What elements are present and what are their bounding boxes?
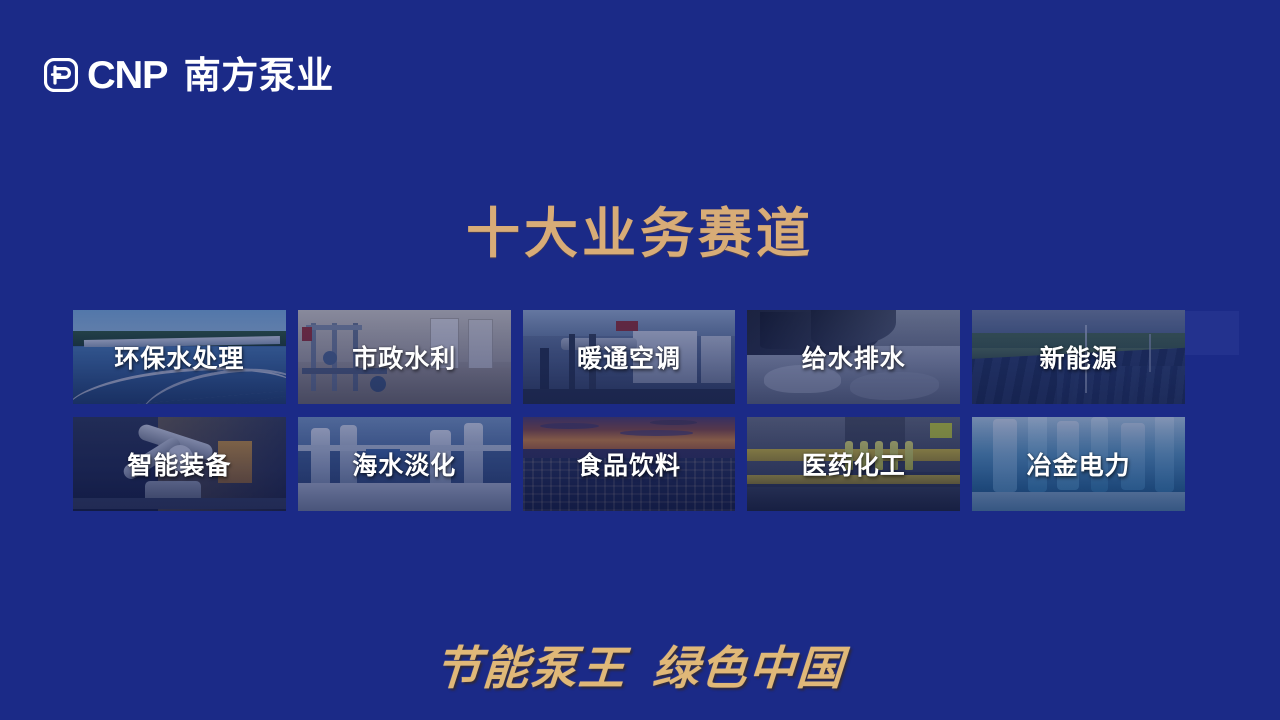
business-card-municipal-water[interactable]: 市政水利: [298, 310, 511, 404]
business-card-new-energy[interactable]: 新能源: [972, 310, 1185, 404]
card-label: 新能源: [972, 310, 1185, 404]
business-card-food-beverage[interactable]: 食品饮料: [523, 417, 736, 511]
business-card-water-supply-drainage[interactable]: 给水排水: [747, 310, 960, 404]
slogan-right: 绿色中国: [651, 641, 847, 695]
business-card-environmental-water[interactable]: 环保水处理: [73, 310, 286, 404]
business-card-metallurgy-power[interactable]: 冶金电力: [972, 417, 1185, 511]
card-label: 冶金电力: [972, 417, 1185, 511]
card-label: 食品饮料: [523, 417, 736, 511]
brand-chinese-name: 南方泵业: [184, 57, 334, 94]
slogan-left: 节能泵王: [433, 641, 629, 695]
business-card-desalination[interactable]: 海水淡化: [298, 417, 511, 511]
brand-logo: CNP 南方泵业: [44, 52, 334, 98]
card-label: 环保水处理: [73, 310, 286, 404]
page-title: 十大业务赛道: [0, 206, 1280, 263]
business-card-smart-equipment[interactable]: 智能装备: [73, 417, 286, 511]
card-label: 给水排水: [747, 310, 960, 404]
brand-latin-name: CNP: [87, 56, 167, 95]
background-artifact-rect: [1185, 311, 1239, 355]
card-label: 智能装备: [73, 417, 286, 511]
card-label: 暖通空调: [523, 310, 736, 404]
card-label: 市政水利: [298, 310, 511, 404]
footer-slogan: 节能泵王绿色中国: [0, 632, 1280, 698]
business-card-pharma-chemical[interactable]: 医药化工: [747, 417, 960, 511]
slide-root: CNP 南方泵业 十大业务赛道 环保水处理 市政水利 暖通空调: [0, 0, 1280, 720]
card-label: 海水淡化: [298, 417, 511, 511]
cnp-monogram-icon: [44, 58, 78, 92]
card-label: 医药化工: [747, 417, 960, 511]
business-track-grid: 环保水处理 市政水利 暖通空调 给水排水: [73, 310, 1185, 511]
business-card-hvac[interactable]: 暖通空调: [523, 310, 736, 404]
